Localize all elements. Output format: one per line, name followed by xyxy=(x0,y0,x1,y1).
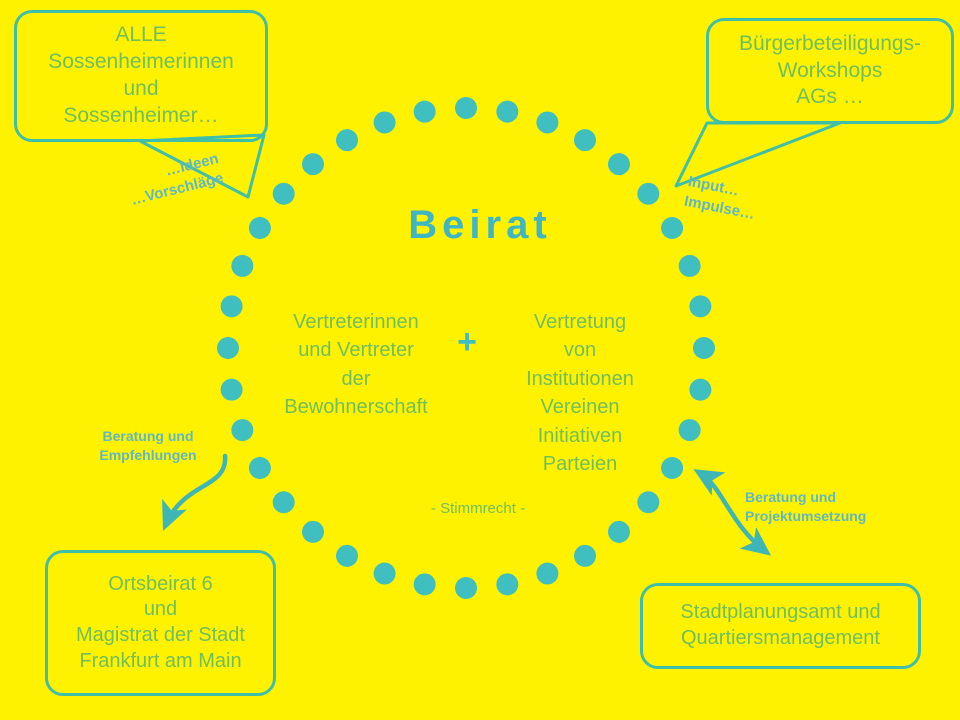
box-ortsbeirat: Ortsbeirat 6undMagistrat der StadtFrankf… xyxy=(45,550,276,696)
ring-column-residents: Vertreterinnenund VertreterderBewohnersc… xyxy=(268,308,444,422)
caption-beratung-empfehlungen: Beratung undEmpfehlungen xyxy=(78,427,218,465)
ring-dot xyxy=(231,419,253,441)
ring-dot xyxy=(661,217,683,239)
ring-dot xyxy=(608,153,630,175)
ring-dot xyxy=(221,379,243,401)
diagram-canvas: ALLESossenheimerinnenundSossenheimer… Bü… xyxy=(0,0,960,720)
ring-dot xyxy=(496,573,518,595)
box-ortsbeirat-label: Ortsbeirat 6undMagistrat der StadtFrankf… xyxy=(48,572,273,674)
ring-dot xyxy=(608,521,630,543)
ring-dot xyxy=(455,577,477,599)
ring-dot xyxy=(689,295,711,317)
ring-dot xyxy=(496,101,518,123)
ring-dot xyxy=(455,97,477,119)
ring-dot xyxy=(336,545,358,567)
ring-dot xyxy=(414,573,436,595)
plus-icon: + xyxy=(447,325,487,359)
ring-dot xyxy=(217,337,239,359)
ring-dot xyxy=(679,419,701,441)
ring-dot xyxy=(693,337,715,359)
ring-dot xyxy=(273,491,295,513)
speech-bubble-citizens: ALLESossenheimerinnenundSossenheimer… xyxy=(14,10,268,142)
ring-dot xyxy=(637,183,659,205)
ring-dot xyxy=(231,255,253,277)
ring-dot xyxy=(249,217,271,239)
annotation-ideen-vorschlaege: …Ideen…Vorschläge xyxy=(124,149,226,211)
annotation-input-impulse: Input…Impulse… xyxy=(682,172,760,225)
ring-dot xyxy=(574,545,596,567)
ring-dot xyxy=(221,295,243,317)
ring-dot xyxy=(336,129,358,151)
speech-bubble-citizens-label: ALLESossenheimerinnenundSossenheimer… xyxy=(17,22,265,130)
ring-dot xyxy=(374,563,396,585)
ring-dot xyxy=(302,521,324,543)
box-stadtplanungsamt-label: Stadtplanungsamt undQuartiersmanagement xyxy=(643,600,918,651)
ring-dot xyxy=(414,101,436,123)
ring-dot xyxy=(536,111,558,133)
ring-dot xyxy=(249,457,271,479)
ring-dot xyxy=(689,379,711,401)
stimmrecht-note: - Stimmrecht - xyxy=(368,500,588,517)
box-stadtplanungsamt: Stadtplanungsamt undQuartiersmanagement xyxy=(640,583,921,669)
page-title: Beirat xyxy=(330,203,630,248)
ring-dot xyxy=(374,111,396,133)
ring-dot xyxy=(679,255,701,277)
ring-column-institutions: VertretungvonInstitutionenVereinenInitia… xyxy=(492,308,668,478)
speech-bubble-workshops-label: Bürgerbeteiligungs-WorkshopsAGs … xyxy=(709,31,951,112)
caption-beratung-projektumsetzung: Beratung undProjektumsetzung xyxy=(745,488,915,526)
arrow-beratung-empfehlungen xyxy=(166,456,225,524)
ring-dot xyxy=(273,183,295,205)
speech-bubble-workshops: Bürgerbeteiligungs-WorkshopsAGs … xyxy=(706,18,954,124)
ring-dot xyxy=(637,491,659,513)
ring-dot xyxy=(574,129,596,151)
ring-dot xyxy=(536,563,558,585)
ring-dot xyxy=(302,153,324,175)
